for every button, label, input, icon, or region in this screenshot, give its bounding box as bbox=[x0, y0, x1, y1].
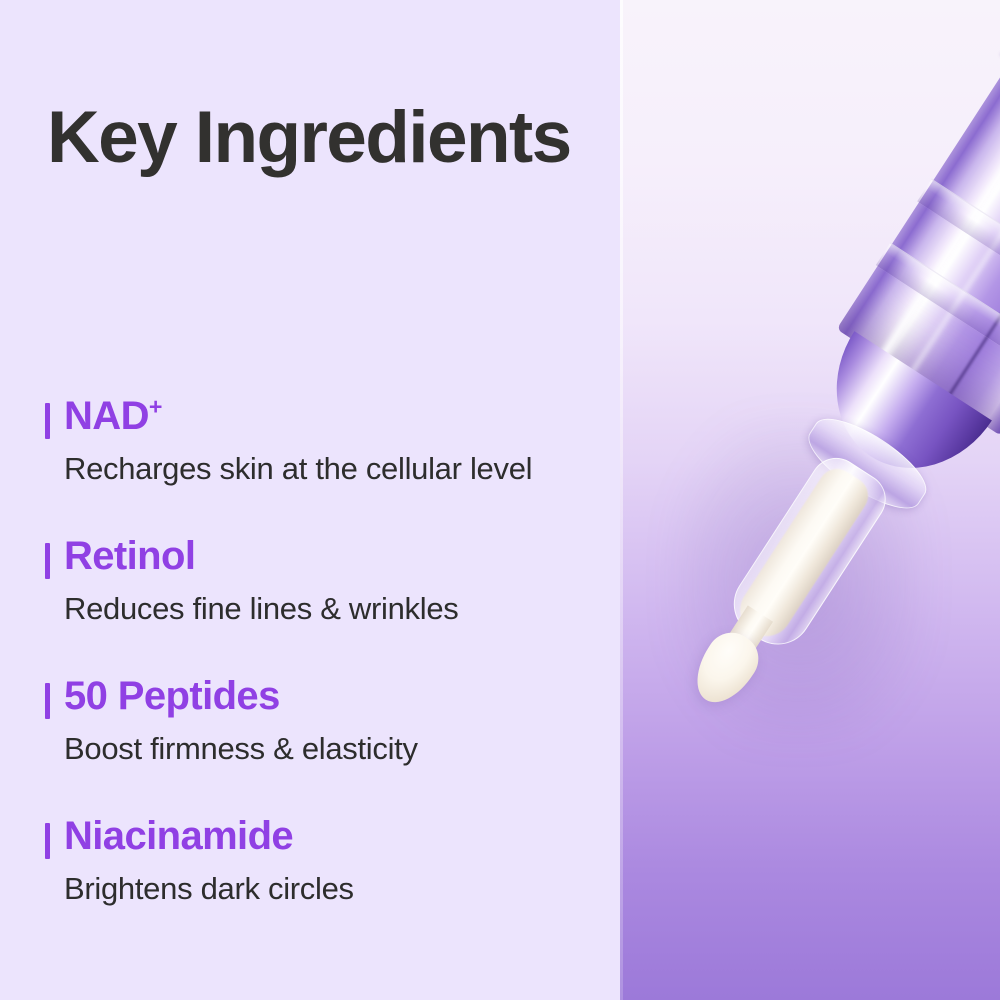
ingredient-name: Niacinamide bbox=[64, 813, 293, 860]
ingredient-name: Retinol bbox=[64, 533, 195, 580]
ingredient-name: 50 Peptides bbox=[64, 673, 280, 720]
brand-variant-text: NAD+ bbox=[967, 0, 1000, 42]
accent-bar-icon bbox=[45, 403, 50, 439]
product-branding: numbuzin NAD+ bbox=[967, 0, 1000, 70]
ingredient-description: Recharges skin at the cellular level bbox=[64, 450, 532, 488]
accent-bar-icon bbox=[45, 683, 50, 719]
ingredient-description: Reduces fine lines & wrinkles bbox=[64, 590, 458, 628]
ingredient-item-50-peptides: 50 Peptides Boost firmness & elasticity bbox=[0, 673, 620, 813]
product-photo: numbuzin NAD+ bbox=[620, 0, 1000, 1000]
accent-bar-icon bbox=[45, 543, 50, 579]
product-image-panel: numbuzin NAD+ bbox=[620, 0, 1000, 1000]
ingredient-item-nad: NAD+ Recharges skin at the cellular leve… bbox=[0, 393, 620, 533]
ingredient-item-retinol: Retinol Reduces fine lines & wrinkles bbox=[0, 533, 620, 673]
ingredient-name-text: Retinol bbox=[64, 534, 195, 578]
page-title: Key Ingredients bbox=[47, 101, 571, 174]
ingredient-name: NAD+ bbox=[64, 393, 162, 440]
accent-bar-icon bbox=[45, 823, 50, 859]
ingredient-item-niacinamide: Niacinamide Brightens dark circles bbox=[0, 813, 620, 953]
product-ingredients-card: Key Ingredients NAD+ Recharges skin at t… bbox=[0, 0, 1000, 1000]
ingredients-panel: Key Ingredients NAD+ Recharges skin at t… bbox=[0, 0, 620, 1000]
serum-tube: numbuzin NAD+ bbox=[754, 0, 1000, 563]
ingredient-name-text: NAD bbox=[64, 394, 149, 438]
ingredient-name-superscript: + bbox=[149, 394, 162, 420]
ingredient-name-text: 50 Peptides bbox=[64, 674, 280, 718]
ingredient-description: Boost firmness & elasticity bbox=[64, 730, 418, 768]
ingredient-list: NAD+ Recharges skin at the cellular leve… bbox=[0, 393, 620, 953]
ingredient-description: Brightens dark circles bbox=[64, 870, 354, 908]
ingredient-name-text: Niacinamide bbox=[64, 814, 293, 858]
